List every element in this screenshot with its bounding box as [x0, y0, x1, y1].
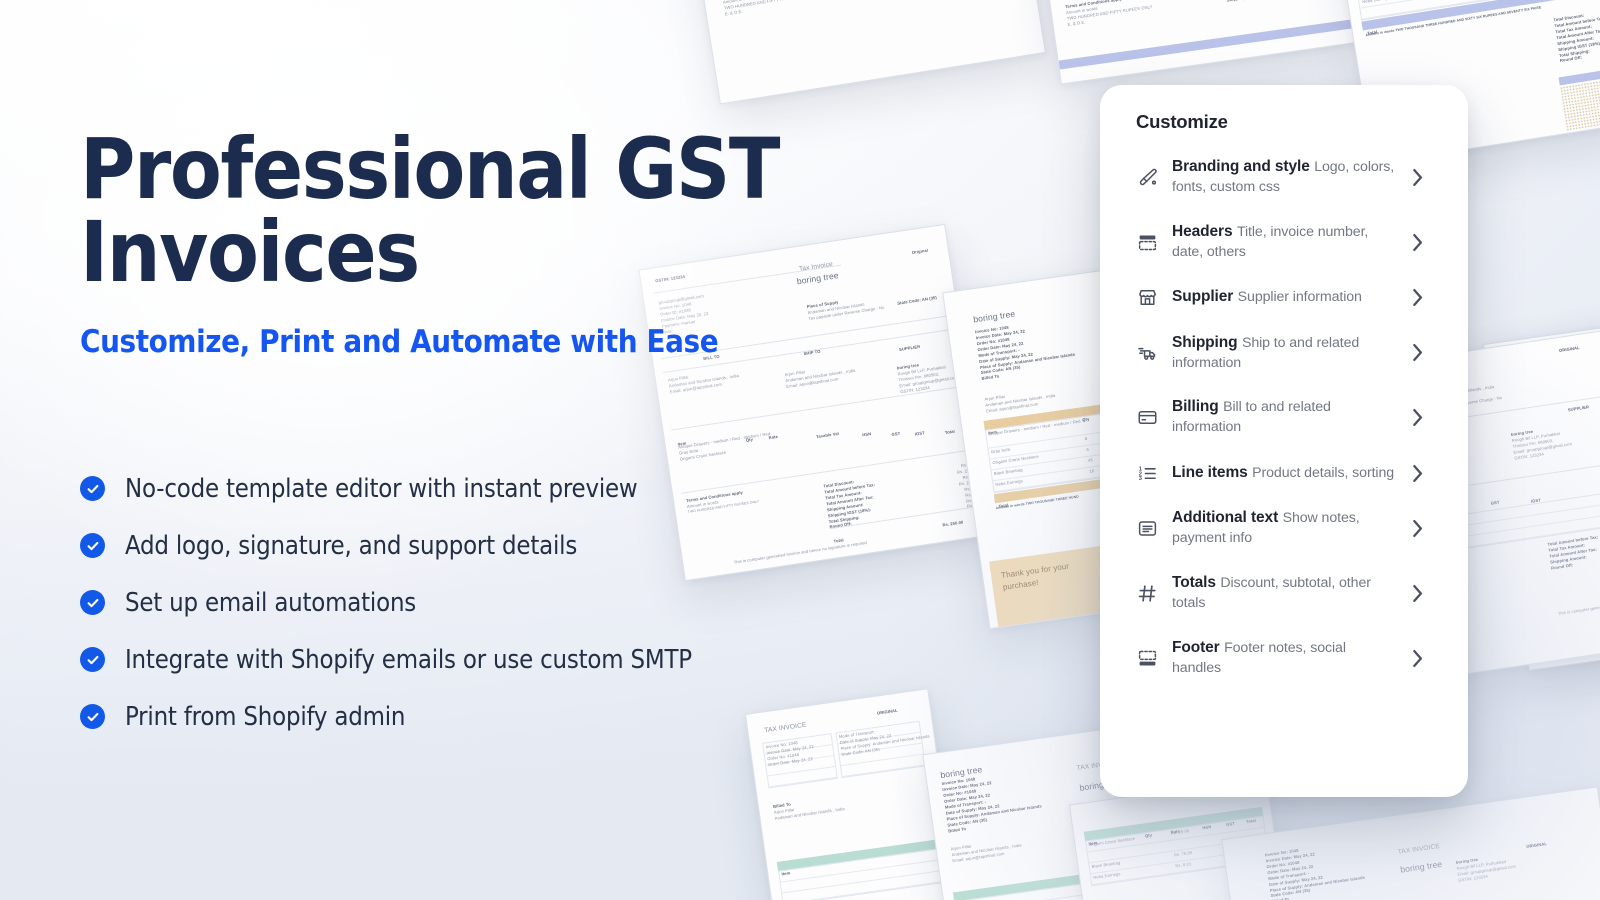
customize-item-supplier[interactable]: Supplier Supplier information: [1110, 275, 1438, 321]
feature-item: No-code template editor with instant pre…: [80, 460, 840, 517]
feature-label: Integrate with Shopify emails or use cus…: [125, 645, 692, 675]
customize-item-text: Supplier Supplier information: [1172, 287, 1397, 308]
feature-label: Print from Shopify admin: [125, 702, 405, 732]
invoice-state-code: State Code: AN (35): [897, 295, 937, 307]
customize-item-subtitle: Supplier information: [1238, 289, 1362, 305]
invoice-company-name: boring tree: [1399, 858, 1443, 876]
feature-item: Integrate with Shopify emails or use cus…: [80, 631, 840, 688]
invoice-original: ORIGINAL: [1559, 345, 1580, 354]
check-circle-icon: [80, 533, 105, 558]
chevron-right-icon[interactable]: [1411, 233, 1424, 252]
hero-section: Professional GST Invoices Customize, Pri…: [80, 128, 800, 360]
customize-item-title: Branding and style: [1172, 158, 1310, 175]
invoice-col-igst: IGST: [914, 430, 925, 436]
invoice-line-qty: 45: [1088, 457, 1094, 464]
customize-item-text: Shipping Ship to and related information: [1172, 333, 1397, 374]
credit-card-icon: [1136, 407, 1158, 429]
invoice-company-name: boring tree: [972, 308, 1016, 326]
customize-item-text: Billing Bill to and related information: [1172, 397, 1397, 438]
panel-title: Customize: [1100, 85, 1468, 145]
customize-item-text: Footer Footer notes, social handles: [1172, 638, 1397, 679]
customize-item-branding-and-style[interactable]: Branding and style Logo, colors, fonts, …: [1110, 145, 1438, 210]
page-title: Professional GST Invoices: [80, 128, 800, 294]
customize-item-shipping[interactable]: Shipping Ship to and related information: [1110, 321, 1438, 386]
invoice-col-taxable: Taxable Val: [816, 431, 840, 439]
customize-item-subtitle: Product details, sorting: [1252, 465, 1394, 481]
customize-item-text: Branding and style Logo, colors, fonts, …: [1172, 157, 1397, 198]
chevron-right-icon[interactable]: [1411, 464, 1424, 483]
header-layout-icon: [1136, 231, 1158, 253]
customize-item-billing[interactable]: Billing Bill to and related information: [1110, 385, 1438, 450]
customize-item-title: Totals: [1172, 574, 1216, 591]
check-circle-icon: [80, 704, 105, 729]
svg-text:3: 3: [1138, 476, 1141, 482]
customize-item-additional-text[interactable]: Additional text Show notes, payment info: [1110, 496, 1438, 561]
customize-item-headers[interactable]: Headers Title, invoice number, date, oth…: [1110, 210, 1438, 275]
customize-option-list: Branding and style Logo, colors, fonts, …: [1100, 145, 1468, 691]
feature-label: No-code template editor with instant pre…: [125, 474, 637, 504]
customize-item-line-items[interactable]: 1 2 3 Line items Product details, sortin…: [1110, 450, 1438, 496]
customize-item-text: Headers Title, invoice number, date, oth…: [1172, 222, 1397, 263]
invoice-col-hsn: HSN: [862, 431, 872, 437]
customize-item-text: Line items Product details, sorting: [1172, 463, 1397, 484]
customize-item-title: Additional text: [1172, 509, 1278, 526]
customize-item-title: Billing: [1172, 398, 1219, 415]
feature-label: Add logo, signature, and support details: [125, 531, 577, 561]
invoice-supplier-header: SUPPLIER: [1568, 404, 1590, 413]
note-text-icon: [1136, 518, 1158, 540]
check-circle-icon: [80, 590, 105, 615]
invoice-original: Original: [912, 248, 929, 256]
customize-item-text: Additional text Show notes, payment info: [1172, 508, 1397, 549]
invoice-col-gst: GST: [1490, 500, 1499, 506]
customize-item-title: Supplier: [1172, 288, 1233, 305]
store-icon: [1136, 287, 1158, 309]
page-subtitle: Customize, Print and Automate with Ease: [80, 324, 800, 360]
feature-item: Print from Shopify admin: [80, 688, 840, 745]
invoice-original: ORIGINAL: [877, 708, 898, 717]
customize-item-title: Line items: [1172, 464, 1248, 481]
feature-label: Set up email automations: [125, 588, 416, 618]
customize-item-footer[interactable]: Footer Footer notes, social handles: [1110, 626, 1438, 691]
invoice-col-total: Total: [945, 429, 956, 435]
feature-item: Set up email automations: [80, 574, 840, 631]
customize-item-title: Headers: [1172, 223, 1232, 240]
footer-layout-icon: [1136, 647, 1158, 669]
truck-icon: [1136, 342, 1158, 364]
check-circle-icon: [80, 647, 105, 672]
invoice-paper-topleft: Terms and Conditions apply Amount in wor…: [684, 0, 1046, 104]
chevron-right-icon[interactable]: [1411, 519, 1424, 538]
customize-panel: Customize Branding and style Logo, color…: [1100, 85, 1468, 797]
invoice-supplier-header: SUPPLIER: [899, 344, 921, 353]
chevron-right-icon[interactable]: [1411, 649, 1424, 668]
check-circle-icon: [80, 476, 105, 501]
invoice-doc-title: TAX INVOICE: [1397, 842, 1440, 857]
chevron-right-icon[interactable]: [1411, 584, 1424, 603]
customize-item-text: Totals Discount, subtotal, other totals: [1172, 573, 1397, 614]
customize-item-totals[interactable]: Totals Discount, subtotal, other totals: [1110, 561, 1438, 626]
customize-item-title: Footer: [1172, 639, 1220, 656]
paint-brush-icon: [1136, 166, 1158, 188]
hash-icon: [1136, 582, 1158, 604]
chevron-right-icon[interactable]: [1411, 168, 1424, 187]
customize-item-title: Shipping: [1172, 334, 1238, 351]
page-title-line-2: Invoices: [80, 203, 419, 301]
invoice-paper-topmiddle: Terms and Conditions apply Amount in wor…: [1022, 0, 1358, 85]
chevron-right-icon[interactable]: [1411, 343, 1424, 362]
invoice-total-row-label: Shipping Amount:: [1226, 0, 1346, 3]
chevron-right-icon[interactable]: [1411, 288, 1424, 307]
feature-item: Add logo, signature, and support details: [80, 517, 840, 574]
feature-list: No-code template editor with instant pre…: [80, 460, 840, 745]
ordered-list-icon: 1 2 3: [1136, 462, 1158, 484]
invoice-col-gst: GST: [891, 431, 900, 437]
chevron-right-icon[interactable]: [1411, 408, 1424, 427]
invoice-total-value: Rs. 250.00: [942, 519, 964, 527]
invoice-footer-note: This is computer generated invoice and h…: [1558, 591, 1600, 617]
invoice-paper-bottomright: Invoice No: 1048 Invoice Date: May 24, 2…: [1221, 786, 1600, 900]
invoice-line-qty: 10: [1089, 468, 1095, 475]
